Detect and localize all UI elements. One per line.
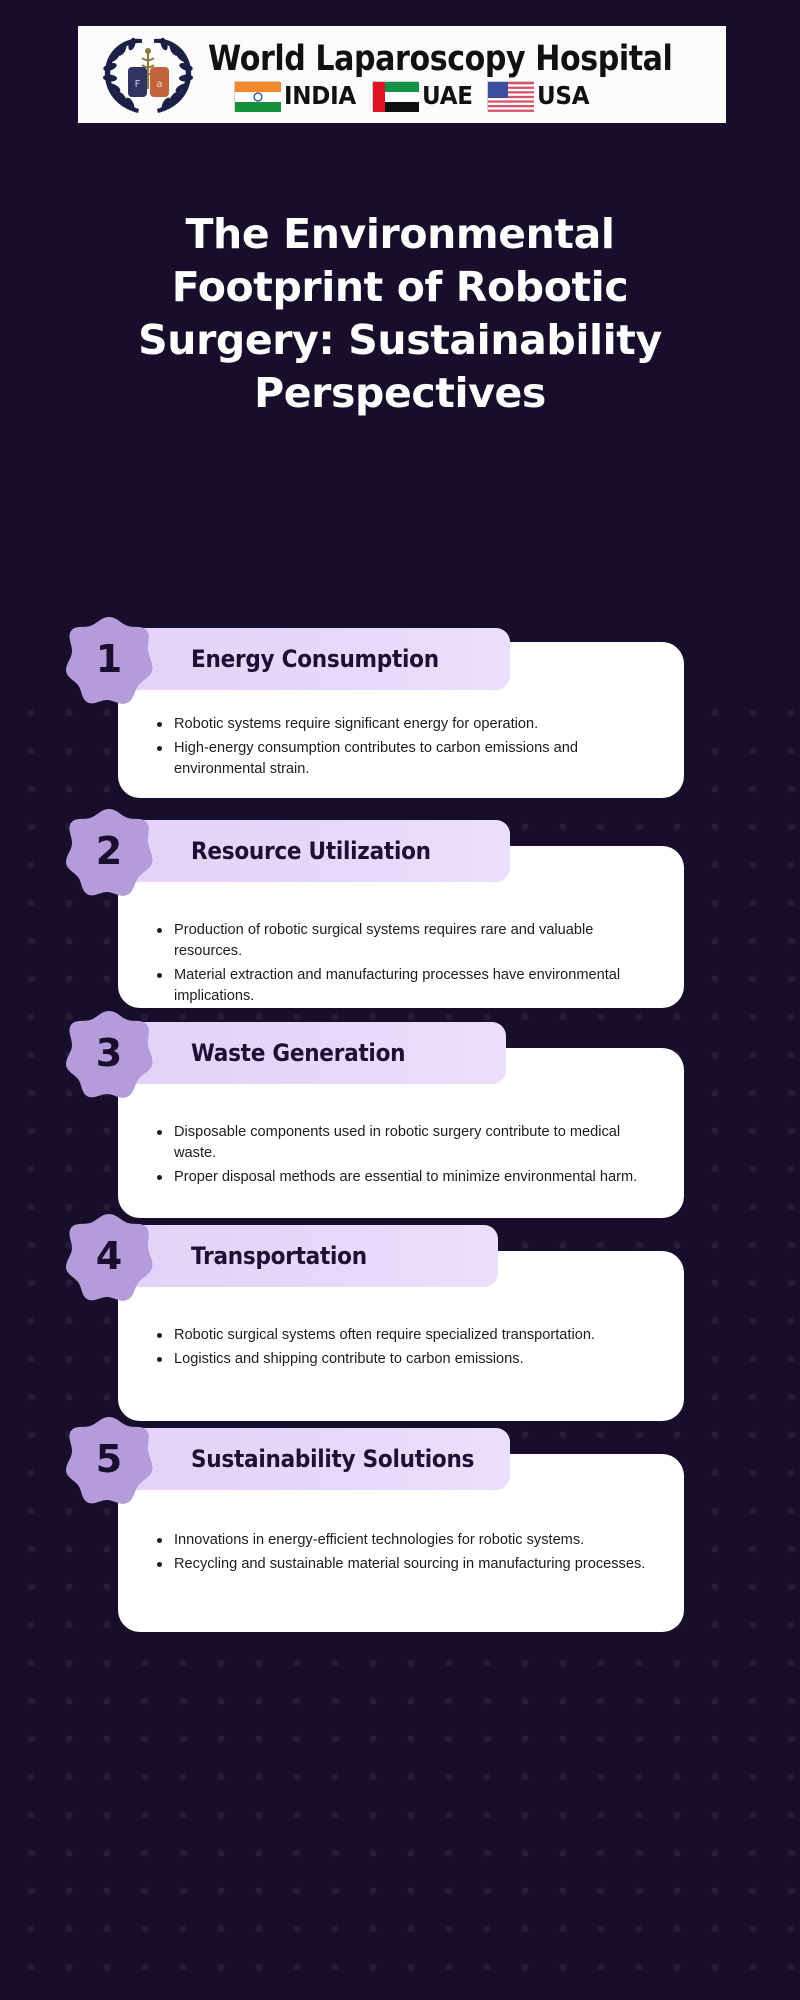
card-header-ribbon: Transportation: [118, 1225, 498, 1287]
infographic-page: F a World Laparoscopy Hospital INDIA: [0, 0, 800, 2000]
india-flag-icon: [234, 81, 280, 111]
step-number-badge: 5: [65, 1416, 153, 1504]
card-title: Transportation: [191, 1242, 367, 1270]
card-title: Energy Consumption: [191, 645, 439, 673]
usa-label: USA: [537, 81, 589, 110]
card-header-ribbon: Waste Generation: [118, 1022, 506, 1084]
card-header-ribbon: Energy Consumption: [118, 628, 510, 690]
bullet-item: Recycling and sustainable material sourc…: [152, 1554, 650, 1575]
uae-label: UAE: [422, 81, 473, 110]
step-number-badge: 3: [65, 1010, 153, 1098]
logo-banner: F a World Laparoscopy Hospital INDIA: [78, 26, 726, 123]
step-number-badge: 2: [65, 808, 153, 896]
india-label: INDIA: [284, 81, 356, 110]
card-bullet-list: Robotic surgical systems often require s…: [118, 1311, 684, 1373]
card-title: Resource Utilization: [191, 837, 431, 865]
step-number: 1: [65, 616, 153, 704]
bullet-item: Robotic systems require significant ener…: [152, 714, 650, 735]
logo-country-row: INDIA UAE: [208, 81, 748, 111]
bullet-item: High-energy consumption contributes to c…: [152, 738, 650, 780]
card-header-ribbon: Sustainability Solutions: [118, 1428, 510, 1490]
step-number: 4: [65, 1213, 153, 1301]
page-title: The Environmental Footprint of Robotic S…: [24, 208, 776, 420]
card-bullet-list: Production of robotic surgical systems r…: [118, 906, 684, 1010]
step-number: 3: [65, 1010, 153, 1098]
logo-title: World Laparoscopy Hospital: [208, 39, 672, 79]
card-header-ribbon: Resource Utilization: [118, 820, 510, 882]
card-title: Waste Generation: [191, 1039, 405, 1067]
bullet-item: Material extraction and manufacturing pr…: [152, 965, 650, 1007]
step-number: 2: [65, 808, 153, 896]
bullet-item: Production of robotic surgical systems r…: [152, 920, 650, 962]
step-number-badge: 4: [65, 1213, 153, 1301]
svg-text:F: F: [135, 79, 141, 90]
logo-text-block: World Laparoscopy Hospital INDIA: [204, 39, 748, 111]
bullet-item: Proper disposal methods are essential to…: [152, 1167, 650, 1188]
step-number: 5: [65, 1416, 153, 1504]
card-bullet-list: Innovations in energy-efficient technolo…: [118, 1516, 684, 1578]
bullet-item: Innovations in energy-efficient technolo…: [152, 1530, 650, 1551]
bullet-item: Disposable components used in robotic su…: [152, 1122, 650, 1164]
uae-flag-icon: [372, 81, 418, 111]
usa-flag-icon: [487, 81, 533, 111]
card-bullet-list: Robotic systems require significant ener…: [118, 700, 684, 783]
card-title: Sustainability Solutions: [191, 1445, 474, 1473]
laurel-crest-icon: F a: [92, 31, 204, 119]
card-bullet-list: Disposable components used in robotic su…: [118, 1108, 684, 1191]
bullet-item: Logistics and shipping contribute to car…: [152, 1349, 650, 1370]
step-number-badge: 1: [65, 616, 153, 704]
bullet-item: Robotic surgical systems often require s…: [152, 1325, 650, 1346]
svg-text:a: a: [156, 79, 162, 90]
